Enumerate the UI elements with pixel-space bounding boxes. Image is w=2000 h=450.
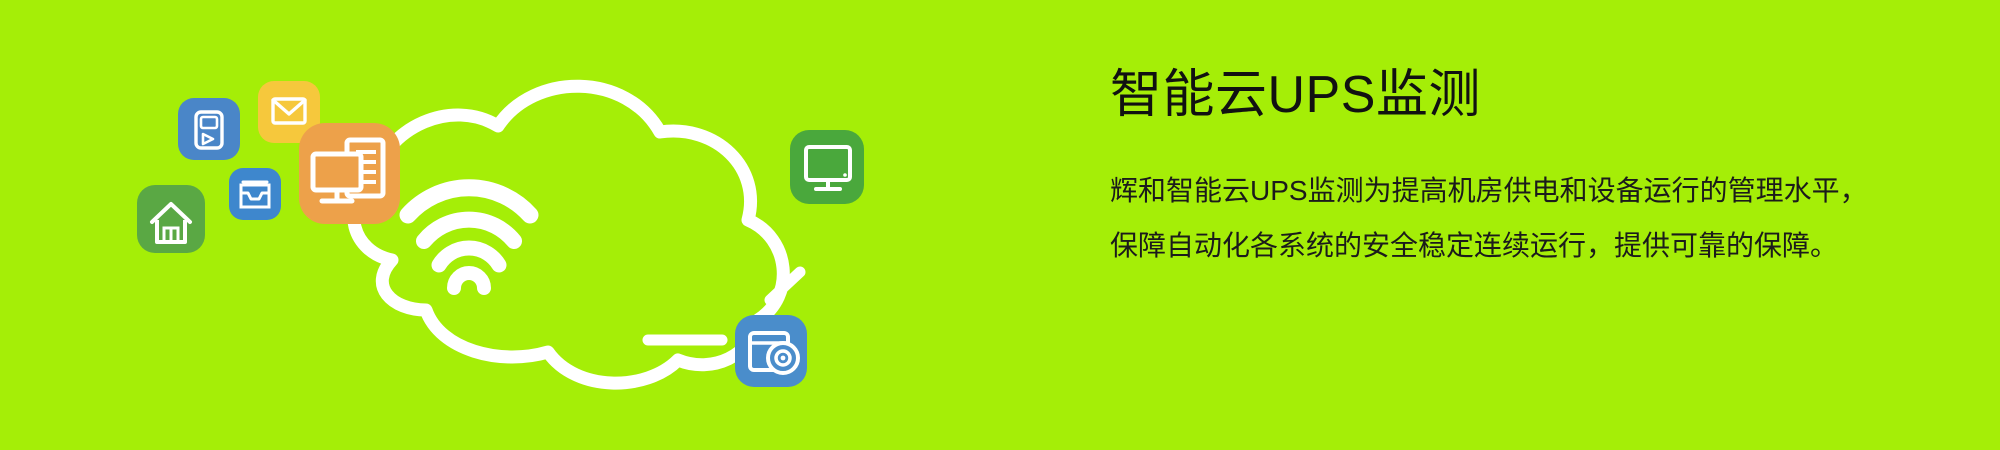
camera-wallet-icon[interactable] [735,315,807,387]
promo-banner: 智能云UPS监测 辉和智能云UPS监测为提高机房供电和设备运行的管理水平， 保障… [0,0,2000,450]
media-player-icon[interactable] [178,98,240,160]
banner-headline: 智能云UPS监测 [1110,66,1990,124]
cloud-devices-illustration [0,0,900,450]
banner-description-line-2: 保障自动化各系统的安全稳定连续运行，提供可靠的保障。 [1110,219,1990,274]
inbox-tray-icon[interactable] [229,168,281,220]
home-house-icon[interactable] [137,185,205,253]
tv-monitor-icon[interactable] [790,130,864,204]
banner-description-line-1: 辉和智能云UPS监测为提高机房供电和设备运行的管理水平， [1110,164,1990,219]
banner-description: 辉和智能云UPS监测为提高机房供电和设备运行的管理水平， 保障自动化各系统的安全… [1110,124,1990,273]
desktop-server-icon[interactable] [299,123,400,224]
wifi-signal-icon [408,188,530,288]
banner-copy: 智能云UPS监测 辉和智能云UPS监测为提高机房供电和设备运行的管理水平， 保障… [1110,66,1990,273]
